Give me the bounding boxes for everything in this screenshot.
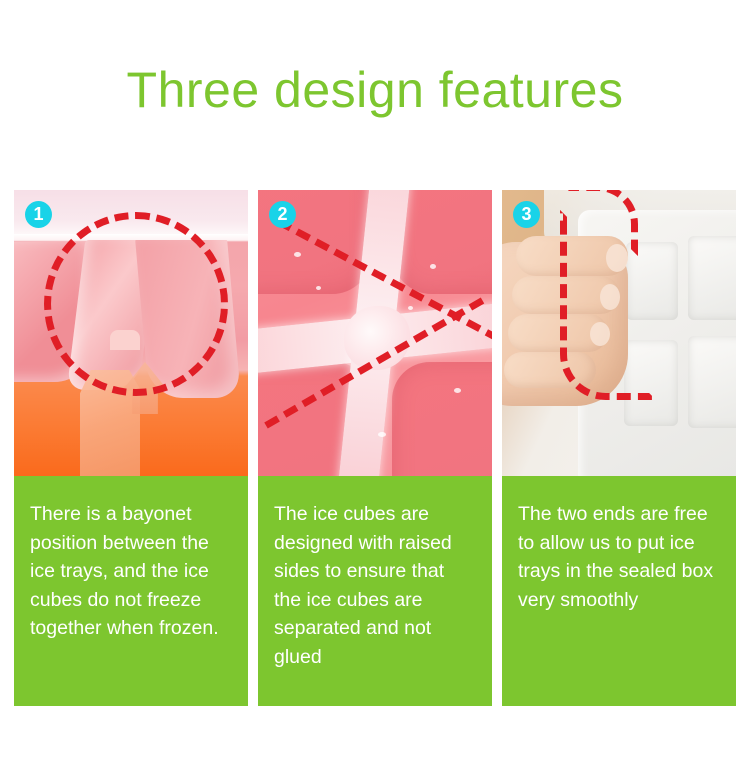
feature-panel-1: 1 There is a bayonet position between th…	[14, 190, 248, 706]
step-badge-2: 2	[269, 201, 296, 228]
feature-caption-text-2: The ice cubes are designed with raised s…	[274, 500, 476, 671]
feature-caption-text-1: There is a bayonet position between the …	[30, 500, 232, 643]
ice-tray-cell	[688, 236, 736, 320]
tray-well-bottom-right	[392, 362, 492, 476]
feature-caption-3: The two ends are free to allow us to put…	[502, 476, 736, 706]
page-title: Three design features	[0, 60, 750, 120]
feature-caption-2: The ice cubes are designed with raised s…	[258, 476, 492, 706]
feature-panels: 1 There is a bayonet position between th…	[14, 190, 736, 706]
feature-panel-3: 3 The two ends are free to allow us to p…	[502, 190, 736, 706]
feature-photo-1: 1	[14, 190, 248, 476]
dashed-curve-highlight-icon	[562, 190, 638, 256]
feature-caption-1: There is a bayonet position between the …	[14, 476, 248, 706]
ice-tray-cell	[688, 336, 736, 428]
step-badge-1: 1	[25, 201, 52, 228]
water-droplet	[378, 432, 386, 437]
feature-caption-text-3: The two ends are free to allow us to put…	[518, 500, 720, 614]
step-badge-3: 3	[513, 201, 540, 228]
water-droplet	[294, 252, 301, 257]
dashed-circle-highlight-icon	[44, 212, 228, 396]
infographic-page: Three design features 1 There is a bayon…	[0, 0, 750, 763]
feature-panel-2: 2 The ice cubes are designed with raised…	[258, 190, 492, 706]
water-droplet	[316, 286, 321, 290]
water-droplet	[408, 306, 413, 310]
feature-photo-2: 2	[258, 190, 492, 476]
water-droplet	[430, 264, 436, 269]
feature-photo-3: 3	[502, 190, 736, 476]
water-droplet	[454, 388, 461, 393]
